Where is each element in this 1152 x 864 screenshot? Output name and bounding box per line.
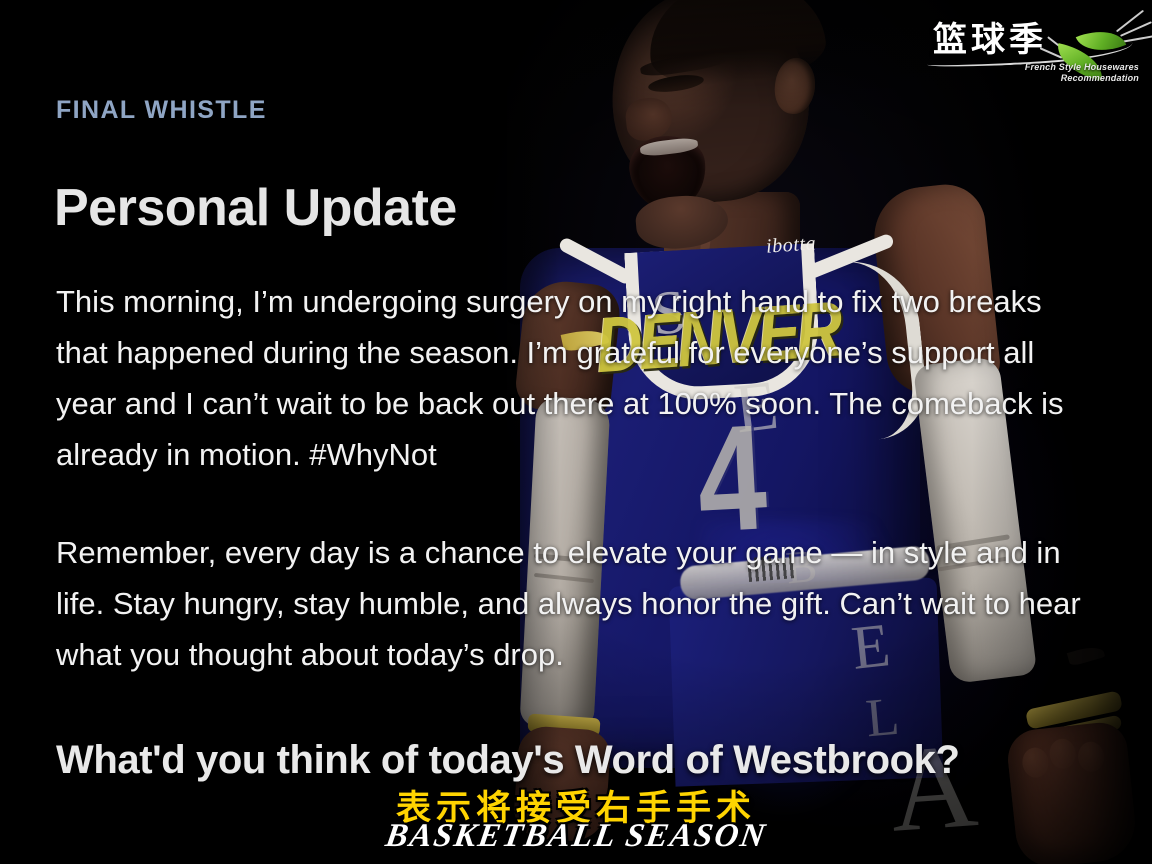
channel-logo: 篮球季 French Style Housewares Recommendati… [927, 4, 1142, 88]
logo-tagline-line-2: Recommendation [979, 73, 1139, 84]
screenshot-stage: S E B E L A ibotta DENVER 4 FINAL WHISTL… [0, 0, 1152, 864]
body-paragraph-1: This morning, I’m undergoing surgery on … [56, 276, 1101, 480]
logo-tagline-line-1: French Style Housewares [979, 62, 1139, 73]
text-overlay: FINAL WHISTLE Personal Update This morni… [0, 0, 1152, 864]
eyebrow-label: FINAL WHISTLE [56, 96, 267, 125]
subtitle-english: BASKETBALL SEASON [0, 818, 1152, 855]
body-paragraph-2: Remember, every day is a chance to eleva… [56, 527, 1101, 680]
call-to-action-headline: What'd you think of today's Word of West… [56, 738, 1126, 783]
logo-tagline: French Style Housewares Recommendation [979, 62, 1139, 84]
logo-whisker-icon [1116, 10, 1144, 33]
page-title: Personal Update [54, 178, 457, 238]
